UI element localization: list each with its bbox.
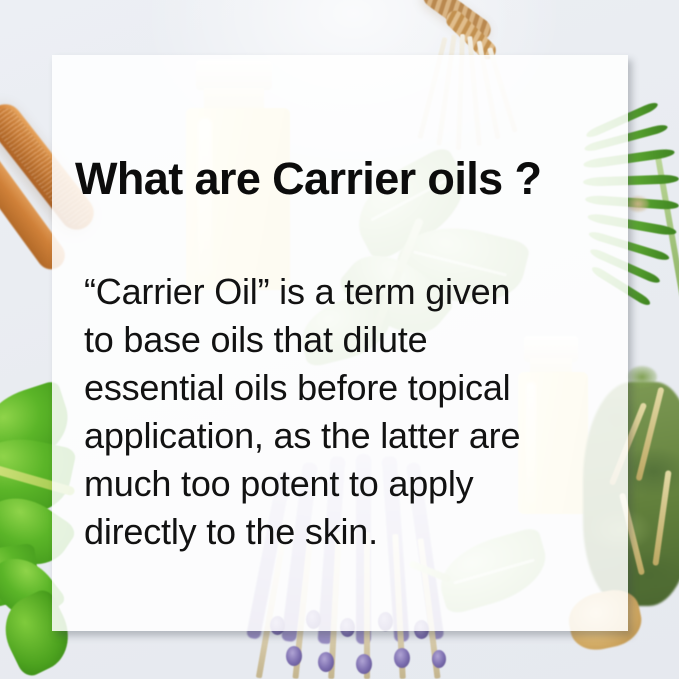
body-line: to base oils that dilute [84,316,614,364]
lavender-bud [356,654,372,674]
body-line: much too potent to apply [84,460,614,508]
page-title: What are Carrier oils ? [75,153,541,205]
thyme-sprig-tip [627,366,657,388]
body-line: essential oils before topical [84,364,614,412]
lavender-bud [432,650,446,668]
body-paragraph: “Carrier Oil” is a term given to base oi… [84,268,614,556]
lavender-bud [286,646,302,666]
body-line: “Carrier Oil” is a term given [84,268,614,316]
body-line: application, as the latter are [84,412,614,460]
rosemary-node [627,196,649,212]
body-line: directly to the skin. [84,508,614,556]
lavender-bud [318,652,334,672]
white-content-card: What are Carrier oils ? “Carrier Oil” is… [52,55,628,631]
infographic-canvas: What are Carrier oils ? “Carrier Oil” is… [0,0,679,679]
lavender-bud [394,648,410,668]
